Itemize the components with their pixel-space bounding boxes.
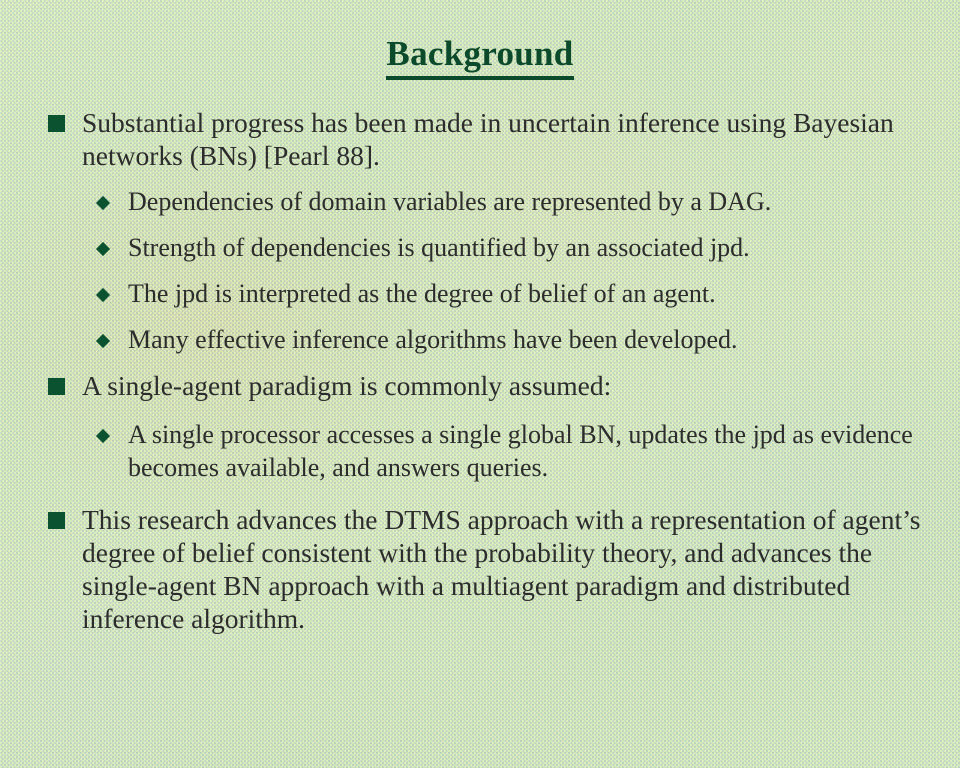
spacer [0,356,960,369]
bullet-list: Substantial progress has been made in un… [0,106,960,635]
spacer [0,484,960,503]
bullet-text: A single-agent paradigm is commonly assu… [82,369,926,402]
spacer [0,310,960,323]
spacer [0,218,960,231]
bullet-text: Dependencies of domain variables are rep… [128,185,926,218]
bullet-item-level2: Dependencies of domain variables are rep… [0,185,960,218]
bullet-item-level1: A single-agent paradigm is commonly assu… [0,369,960,402]
square-bullet-icon [48,115,65,132]
bullet-item-level2: A single processor accesses a single glo… [0,418,960,484]
diamond-bullet-icon [96,196,110,210]
slide-content: Background Substantial progress has been… [0,0,960,768]
square-bullet-icon [48,512,65,529]
bullet-text: Many effective inference algorithms have… [128,323,926,356]
square-bullet-icon [48,378,65,395]
bullet-text: Strength of dependencies is quantified b… [128,231,926,264]
bullet-item-level2: Strength of dependencies is quantified b… [0,231,960,264]
bullet-text: Substantial progress has been made in un… [82,106,926,172]
slide-title-container: Background [0,36,960,80]
spacer [0,264,960,277]
bullet-text: This research advances the DTMS approach… [82,503,926,635]
diamond-bullet-icon [96,429,110,443]
page-title: Background [386,36,573,80]
bullet-item-level2: Many effective inference algorithms have… [0,323,960,356]
diamond-bullet-icon [96,334,110,348]
diamond-bullet-icon [96,242,110,256]
diamond-bullet-icon [96,288,110,302]
bullet-item-level1: This research advances the DTMS approach… [0,503,960,635]
spacer [0,402,960,418]
spacer [0,172,960,185]
bullet-item-level1: Substantial progress has been made in un… [0,106,960,172]
bullet-text: A single processor accesses a single glo… [128,418,926,484]
presentation-slide: Background Substantial progress has been… [0,0,960,768]
bullet-item-level2: The jpd is interpreted as the degree of … [0,277,960,310]
bullet-text: The jpd is interpreted as the degree of … [128,277,926,310]
